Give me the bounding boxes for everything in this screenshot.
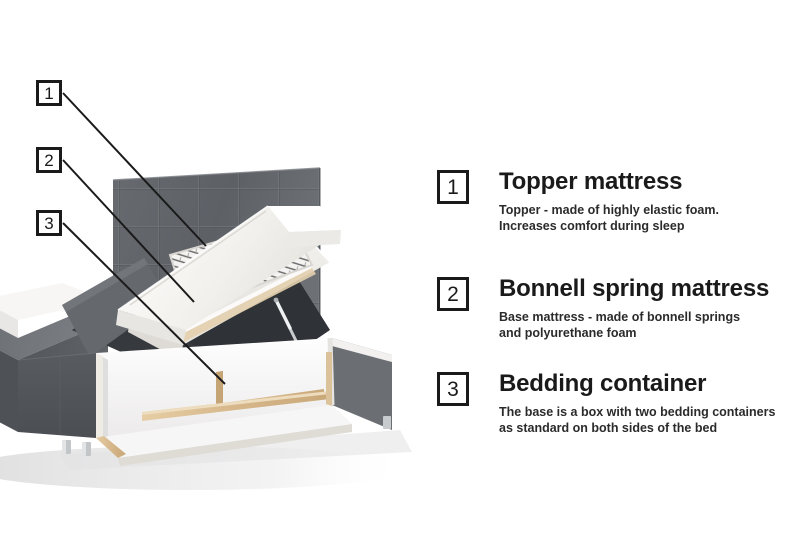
legend-description-2-line2: and polyurethane foam [499,325,800,342]
base-box-lower [18,353,96,438]
legend-description-3-line1: The base is a box with two bedding conta… [499,404,800,421]
legend-item-bedding-container: 3 Bedding container The base is a box wi… [437,370,800,437]
legend-number-badge-1: 1 [437,170,469,204]
legend-body-3: Bedding container The base is a box with… [499,370,800,437]
legend-title-2: Bonnell spring mattress [499,275,800,303]
legend-description-2-line1: Base mattress - made of bonnell springs [499,309,800,326]
legend-description-2: Base mattress - made of bonnell springs … [499,309,800,343]
legend-description-3-line2: as standard on both sides of the bed [499,420,800,437]
legend-item-topper-mattress: 1 Topper mattress Topper - made of highl… [437,168,800,235]
legend-number-3-label: 3 [447,379,459,400]
legend-panel: 1 Topper mattress Topper - made of highl… [437,0,800,533]
callout-badge-1-label: 1 [44,85,53,102]
callout-badge-2-label: 2 [44,152,53,169]
legend-number-2-label: 2 [447,284,459,305]
legend-description-3: The base is a box with two bedding conta… [499,404,800,438]
legend-item-bonnell-spring-mattress: 2 Bonnell spring mattress Base mattress … [437,275,800,342]
legend-description-1-line1: Topper - made of highly elastic foam. [499,202,800,219]
legend-description-1: Topper - made of highly elastic foam. In… [499,202,800,236]
legend-title-1: Topper mattress [499,168,800,196]
legend-description-1-line2: Increases comfort during sleep [499,218,800,235]
bed-illustration: 1 2 3 [0,0,430,533]
diagram-page: 1 2 3 1 Topper mattress Topper - made of… [0,0,800,533]
legend-number-1-label: 1 [447,177,459,198]
callout-badge-2: 2 [36,147,62,173]
bed-cutaway-graphic [0,0,430,533]
callout-badge-1: 1 [36,80,62,106]
legend-number-badge-3: 3 [437,372,469,406]
legend-body-2: Bonnell spring mattress Base mattress - … [499,275,800,342]
callout-badge-3-label: 3 [44,215,53,232]
legend-title-3: Bedding container [499,370,800,398]
legend-body-1: Topper mattress Topper - made of highly … [499,168,800,235]
callout-badge-3: 3 [36,210,62,236]
legend-number-badge-2: 2 [437,277,469,311]
